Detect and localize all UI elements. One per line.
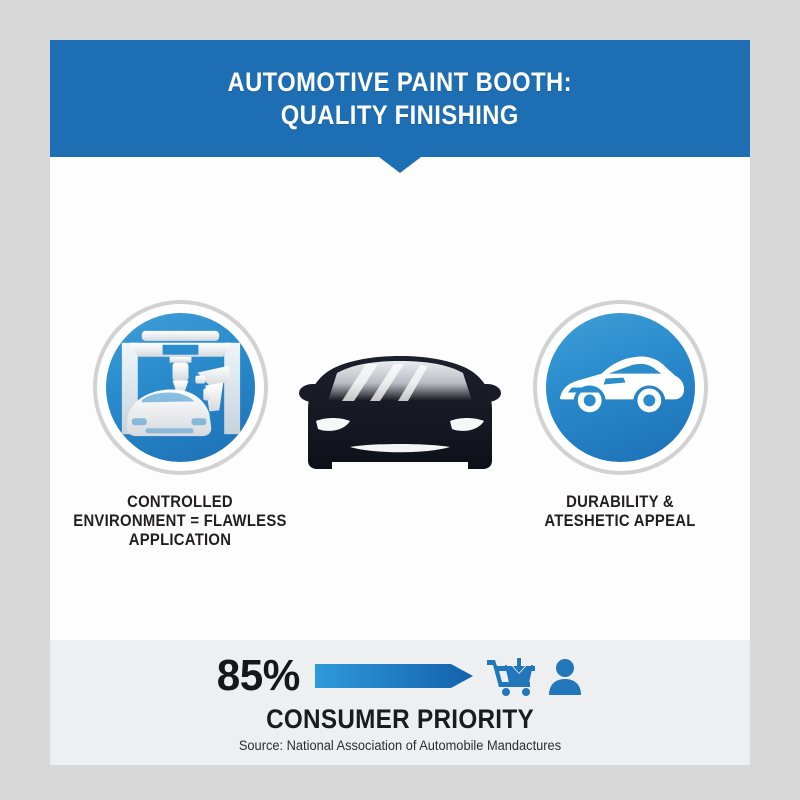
infographic-canvas: AUTOMOTIVE PAINT BOOTH: QUALITY FINISHIN… (0, 0, 800, 800)
progress-arrow-bar (315, 661, 475, 691)
caption-line-1: CONTROLLED (127, 493, 233, 511)
caption-line-3: APPLICATION (129, 531, 232, 549)
center-car-graphic (292, 335, 508, 490)
caption-line-1: DURABILITY & (566, 493, 674, 511)
shopping-cart-download-icon (487, 657, 535, 696)
header-banner: AUTOMOTIVE PAINT BOOTH: QUALITY FINISHIN… (50, 40, 750, 157)
car-side-profile-icon (546, 313, 695, 462)
badge-disc (546, 313, 695, 462)
caption-line-2: ATESHETIC APPEAL (544, 512, 695, 530)
footer-stat-band: 85% (50, 640, 750, 765)
banner-notch-triangle (379, 157, 421, 173)
cart-and-person-icons (485, 656, 585, 696)
caption-line-2: ENVIRONMENT = FLAWLESS (73, 512, 286, 530)
feature-caption-paint-booth: CONTROLLED ENVIRONMENT = FLAWLESS APPLIC… (72, 493, 288, 550)
stat-percent-value: 85% (216, 654, 299, 698)
badge-disc (106, 313, 255, 462)
page-title: AUTOMOTIVE PAINT BOOTH: QUALITY FINISHIN… (228, 66, 573, 132)
page-title-line-2: QUALITY FINISHING (281, 100, 519, 130)
paint-booth-badge (93, 300, 268, 475)
person-icon (549, 659, 581, 695)
footer-stat-title: CONSUMER PRIORITY (85, 704, 715, 735)
paint-booth-spray-gun-icon (106, 313, 255, 462)
durability-badge (533, 300, 708, 475)
stat-row: 85% (50, 650, 750, 702)
feature-caption-durability: DURABILITY & ATESHETIC APPEAL (512, 493, 728, 531)
car-front-view-icon (292, 335, 508, 490)
footer-source-note: Source: National Association of Automobi… (68, 738, 733, 753)
page-title-line-1: AUTOMOTIVE PAINT BOOTH: (228, 67, 573, 97)
feature-panel-paint-booth: CONTROLLED ENVIRONMENT = FLAWLESS APPLIC… (60, 300, 300, 550)
feature-panel-durability: DURABILITY & ATESHETIC APPEAL (500, 300, 740, 531)
